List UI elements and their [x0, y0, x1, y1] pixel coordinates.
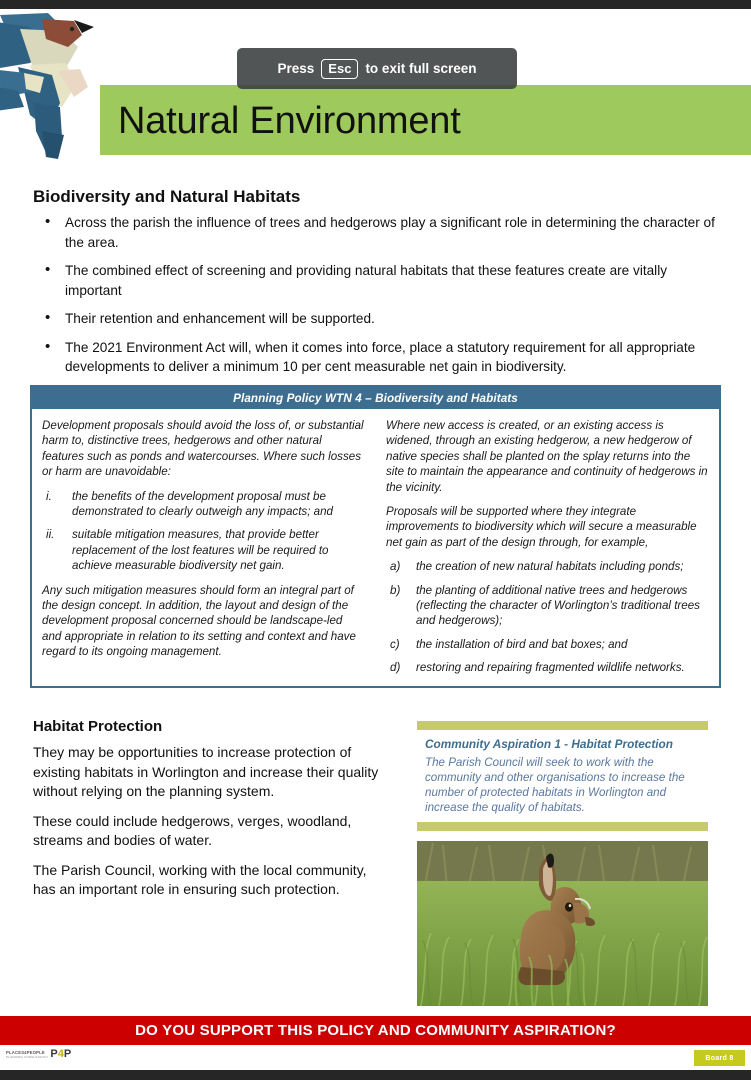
- section-heading-biodiversity: Biodiversity and Natural Habitats: [33, 187, 751, 207]
- aspiration-top-bar: [417, 721, 708, 730]
- toast-suffix-label: to exit full screen: [365, 61, 476, 76]
- habitat-paragraph: They may be opportunities to increase pr…: [33, 743, 383, 802]
- aspiration-title: Community Aspiration 1 - Habitat Protect…: [425, 737, 700, 751]
- esc-key-badge: Esc: [321, 59, 358, 79]
- list-item: c) the installation of bird and bat boxe…: [386, 637, 708, 652]
- browser-chrome-bottom-bar: [0, 1070, 751, 1080]
- places4people-logo: PLACES4PEOPLE PLANNING CONSULTANCY P4P: [6, 1049, 71, 1060]
- list-marker: ii.: [46, 527, 54, 542]
- policy-right-para-1: Where new access is created, or an exist…: [386, 418, 708, 495]
- p4p-mark-icon: P4P: [50, 1049, 71, 1060]
- logo-mark-right: P: [64, 1048, 71, 1060]
- exit-fullscreen-toast: Press Esc to exit full screen: [237, 48, 517, 89]
- policy-left-closing: Any such mitigation measures should form…: [42, 583, 364, 660]
- list-text: the installation of bird and bat boxes; …: [416, 638, 627, 651]
- policy-column-left: Development proposals should avoid the l…: [42, 418, 364, 685]
- policy-box-header: Planning Policy WTN 4 – Biodiversity and…: [32, 387, 719, 409]
- planning-policy-box: Planning Policy WTN 4 – Biodiversity and…: [30, 385, 721, 688]
- policy-column-right: Where new access is created, or an exist…: [386, 418, 708, 685]
- list-text: suitable mitigation measures, that provi…: [72, 528, 329, 572]
- biodiversity-bullet-list: Across the parish the influence of trees…: [41, 213, 721, 377]
- policy-right-para-2: Proposals will be supported where they i…: [386, 504, 708, 550]
- list-item: a) the creation of new natural habitats …: [386, 559, 708, 574]
- list-item: The combined effect of screening and pro…: [41, 261, 721, 300]
- swallow-bird-icon: [0, 11, 110, 161]
- list-marker: b): [390, 583, 400, 598]
- habitat-paragraph: The Parish Council, working with the loc…: [33, 861, 383, 900]
- habitat-paragraph: These could include hedgerows, verges, w…: [33, 812, 383, 851]
- list-text: the planting of additional native trees …: [416, 584, 700, 628]
- call-to-action-banner: DO YOU SUPPORT THIS POLICY AND COMMUNITY…: [0, 1016, 751, 1045]
- list-marker: c): [390, 637, 400, 652]
- list-marker: a): [390, 559, 400, 574]
- policy-left-intro: Development proposals should avoid the l…: [42, 418, 364, 480]
- list-marker: i.: [46, 489, 52, 504]
- logo-tagline: PLANNING CONSULTANCY: [6, 1055, 48, 1059]
- list-text: restoring and repairing fragmented wildl…: [416, 661, 685, 674]
- list-item: i. the benefits of the development propo…: [42, 489, 364, 520]
- list-item: The 2021 Environment Act will, when it c…: [41, 338, 721, 377]
- policy-left-roman-list: i. the benefits of the development propo…: [42, 489, 364, 574]
- board-navigation-button[interactable]: Board 8: [691, 1050, 745, 1066]
- hare-photo: [417, 841, 708, 1006]
- aspiration-bottom-bar: [417, 822, 708, 831]
- community-aspiration-box: Community Aspiration 1 - Habitat Protect…: [417, 721, 708, 831]
- list-item: d) restoring and repairing fragmented wi…: [386, 660, 708, 675]
- list-text: the benefits of the development proposal…: [72, 490, 333, 518]
- habitat-protection-heading: Habitat Protection: [33, 718, 383, 735]
- list-item: Across the parish the influence of trees…: [41, 213, 721, 252]
- list-item: b) the planting of additional native tre…: [386, 583, 708, 629]
- aspiration-text: The Parish Council will seek to work wit…: [425, 755, 700, 815]
- browser-chrome-top-bar: [0, 0, 751, 9]
- list-text: the creation of new natural habitats inc…: [416, 560, 683, 573]
- list-marker: d): [390, 660, 400, 675]
- page-title: Natural Environment: [118, 95, 461, 147]
- main-content: Biodiversity and Natural Habitats Across…: [0, 161, 751, 386]
- policy-columns: Development proposals should avoid the l…: [32, 409, 719, 685]
- brown-hare-in-grass-photo: [417, 841, 708, 1006]
- toast-press-label: Press: [278, 61, 315, 76]
- list-item: ii. suitable mitigation measures, that p…: [42, 527, 364, 573]
- policy-right-lettered-list: a) the creation of new natural habitats …: [386, 559, 708, 675]
- logo-mark-left: P: [50, 1048, 57, 1060]
- presentation-page: Natural Environment Press Esc to exit fu…: [0, 0, 751, 1080]
- page-footer: PLACES4PEOPLE PLANNING CONSULTANCY P4P B…: [0, 1045, 751, 1070]
- habitat-protection-section: Habitat Protection They may be opportuni…: [33, 718, 383, 910]
- aspiration-body: Community Aspiration 1 - Habitat Protect…: [417, 730, 708, 819]
- list-item: Their retention and enhancement will be …: [41, 309, 721, 329]
